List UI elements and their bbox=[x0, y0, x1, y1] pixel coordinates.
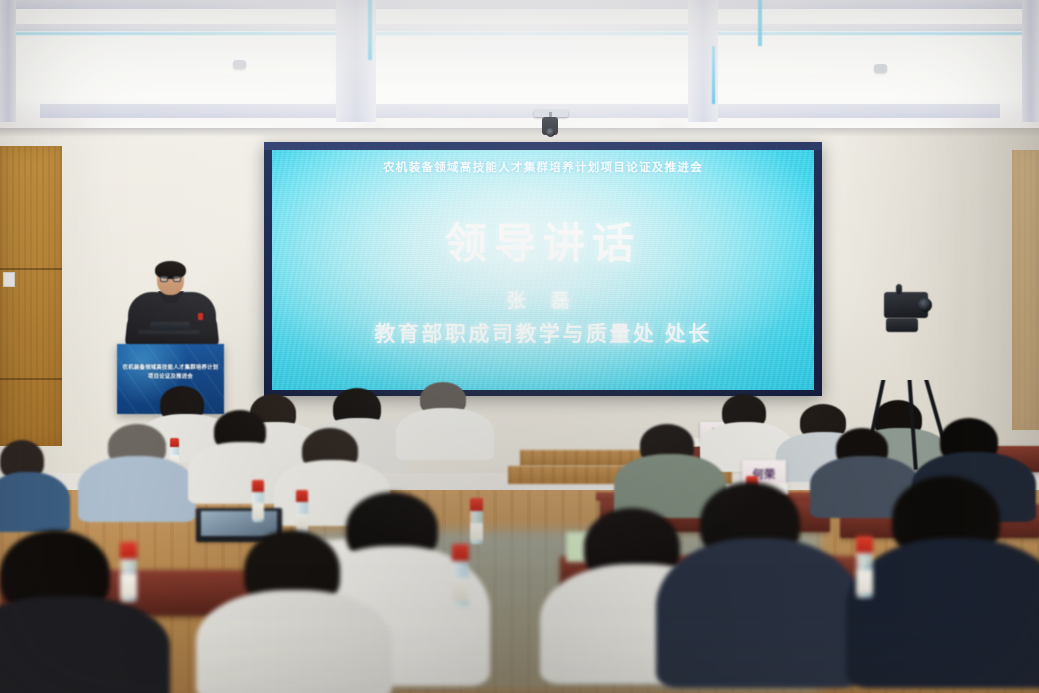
podium-sign-line1: 农机装备领域高技能人才集群培养计划 bbox=[120, 364, 221, 373]
water-bottle bbox=[296, 490, 308, 534]
led-screen[interactable]: 农机装备领域高技能人才集群培养计划项目论证及推进会 领导讲话 张 磊 教育部职成… bbox=[272, 150, 814, 390]
ceiling bbox=[0, 0, 1039, 140]
screen-speaker-name: 张 磊 bbox=[272, 286, 814, 313]
water-bottle bbox=[452, 544, 469, 606]
camera-lens-icon bbox=[546, 128, 555, 137]
water-bottle bbox=[470, 498, 483, 544]
glasses-icon bbox=[160, 276, 181, 282]
camera-lens-icon bbox=[918, 298, 932, 312]
screen-speaker-role: 教育部职成司教学与质量处 处长 bbox=[272, 318, 814, 348]
screen-banner-text: 农机装备领域高技能人才集群培养计划项目论证及推进会 bbox=[272, 159, 814, 175]
wall-switch-plate[interactable] bbox=[3, 272, 15, 287]
water-bottle bbox=[252, 480, 264, 522]
lapel-badge bbox=[198, 313, 203, 320]
smoke-detector-icon bbox=[233, 60, 246, 69]
smoke-detector-icon bbox=[874, 64, 887, 73]
screen-title-text: 领导讲话 bbox=[272, 210, 814, 271]
water-bottle bbox=[120, 542, 137, 602]
audience-area: 资 何荣 bbox=[0, 380, 1039, 693]
water-bottle bbox=[856, 536, 873, 598]
conference-hall-photo: 农机装备领域高技能人才集群培养计划项目论证及推进会 领导讲话 张 磊 教育部职成… bbox=[0, 0, 1039, 693]
